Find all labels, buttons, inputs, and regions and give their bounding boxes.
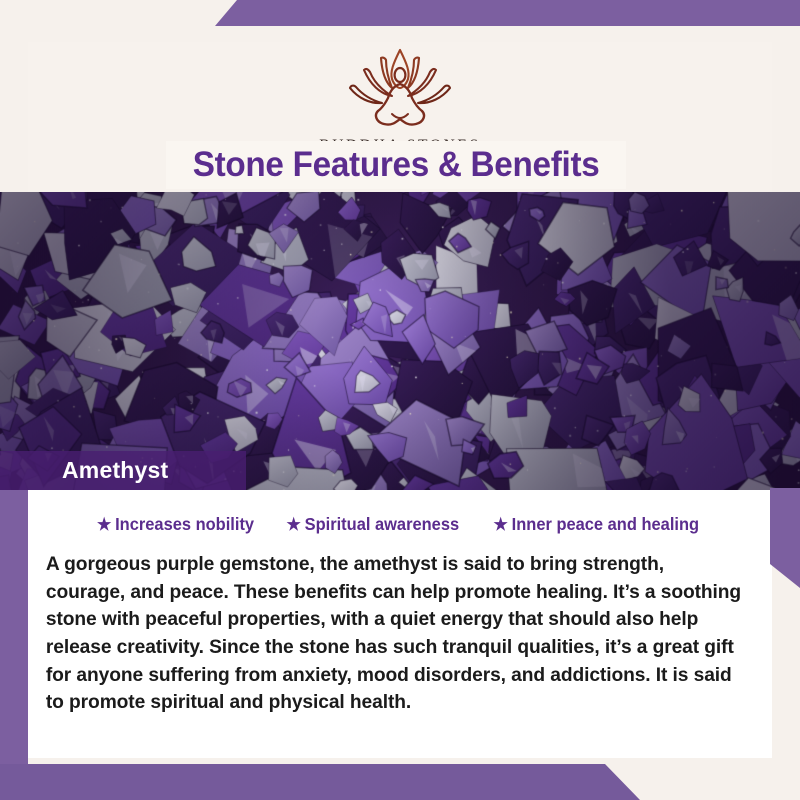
stone-name-label: Amethyst [62,457,168,484]
benefits-list: ★Increases nobility★Spiritual awareness★… [38,514,760,535]
star-icon: ★ [287,516,301,533]
hero-image [0,192,800,490]
decorative-ribbon-left [0,490,28,768]
decorative-ribbon-bottom [0,764,640,800]
stone-description: A gorgeous purple gemstone, the amethyst… [38,551,749,717]
star-icon: ★ [494,516,508,533]
page-title: Stone Features & Benefits [166,141,626,189]
amethyst-crystal-photo [0,192,800,490]
benefit-label: Inner peace and healing [512,514,699,535]
decorative-ribbon-right [770,488,800,588]
stone-name-bar: Amethyst [0,451,246,490]
stone-info-card: BUDDHA STONES Stone Features & Benefits … [0,0,800,800]
benefit-item: ★Inner peace and healing [494,514,700,535]
benefit-label: Increases nobility [115,514,254,535]
benefit-item: ★Spiritual awareness [287,514,460,535]
brand-logo: BUDDHA STONES [319,44,480,155]
benefit-label: Spiritual awareness [305,514,460,535]
benefit-item: ★Increases nobility [97,514,254,535]
lotus-meditation-icon [340,44,460,134]
star-icon: ★ [97,516,111,533]
decorative-ribbon-top [215,0,800,26]
content-panel: ★Increases nobility★Spiritual awareness★… [28,490,772,758]
page-title-text: Stone Features & Benefits [193,145,600,185]
